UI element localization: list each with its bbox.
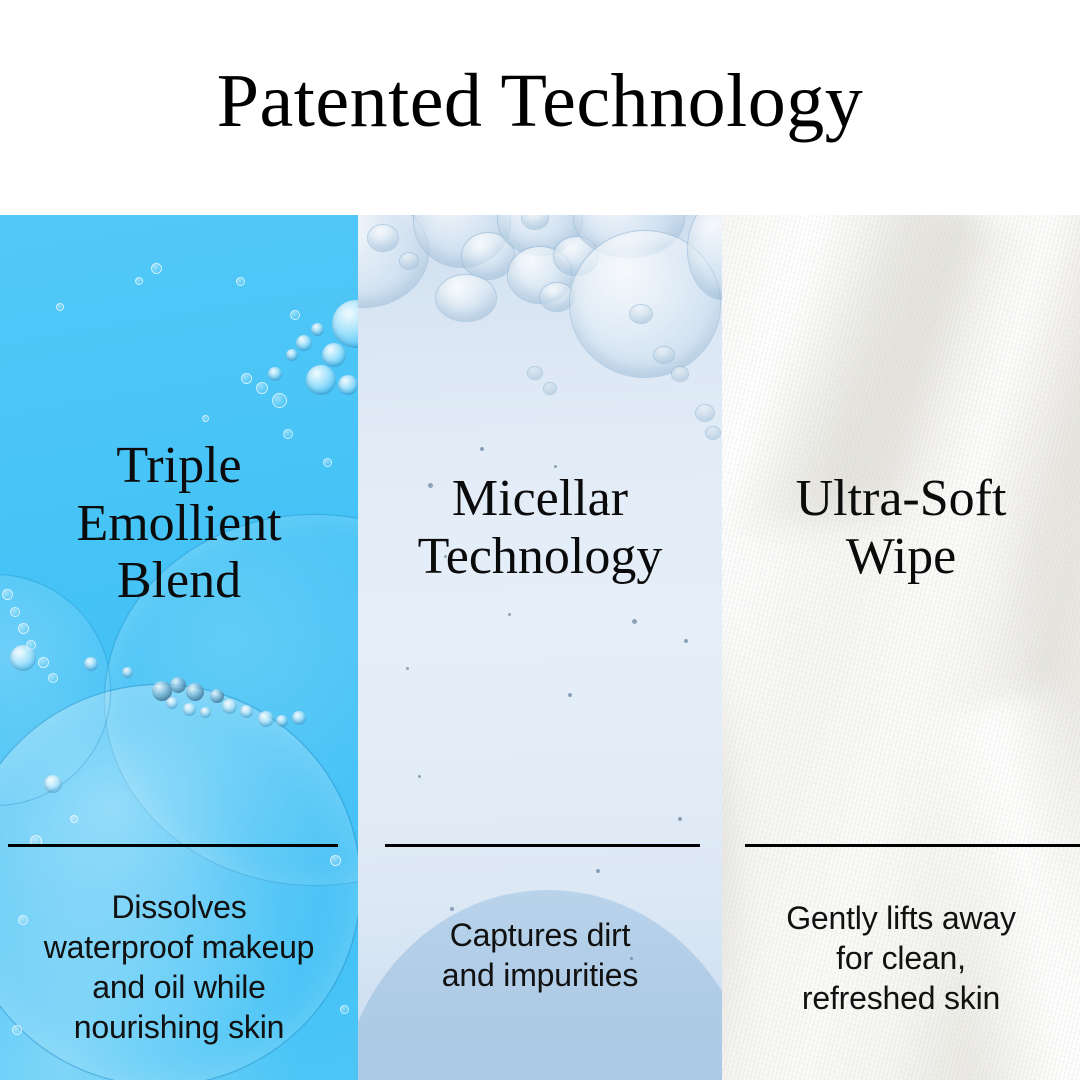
panel-1-heading-line: Blend <box>0 552 358 610</box>
feature-panel-ultra-soft-wipe: Ultra-Soft Wipe Gently lifts away for cl… <box>722 215 1080 1080</box>
panel-2-heading-line: Micellar <box>358 470 722 528</box>
panel-1-divider <box>8 844 338 847</box>
panel-2-description-line: and impurities <box>372 955 708 995</box>
panel-2-description: Captures dirt and impurities <box>358 915 722 995</box>
panel-3-description: Gently lifts away for clean, refreshed s… <box>722 898 1080 1018</box>
panel-1-content: Triple Emollient Blend Dissolves waterpr… <box>0 215 358 1080</box>
feature-panel-triple-emollient-blend: Triple Emollient Blend Dissolves waterpr… <box>0 215 358 1080</box>
panel-1-heading-line: Triple <box>0 437 358 495</box>
panel-3-content: Ultra-Soft Wipe Gently lifts away for cl… <box>722 215 1080 1080</box>
panel-1-description-line: waterproof makeup <box>6 927 352 967</box>
panel-3-description-line: Gently lifts away <box>736 898 1066 938</box>
panel-1-description-line: nourishing skin <box>6 1007 352 1047</box>
panel-3-divider <box>745 844 1080 847</box>
panel-1-description: Dissolves waterproof makeup and oil whil… <box>0 887 358 1047</box>
panel-1-heading: Triple Emollient Blend <box>0 437 358 610</box>
feature-panel-micellar-technology: Micellar Technology Captures dirt and im… <box>358 215 722 1080</box>
panel-2-heading: Micellar Technology <box>358 470 722 585</box>
page-title: Patented Technology <box>217 63 864 153</box>
panel-3-description-line: refreshed skin <box>736 978 1066 1018</box>
panel-3-heading-line: Wipe <box>722 528 1080 586</box>
panel-2-description-line: Captures dirt <box>372 915 708 955</box>
panel-3-heading-line: Ultra-Soft <box>722 470 1080 528</box>
panel-1-description-line: Dissolves <box>6 887 352 927</box>
panel-2-heading-line: Technology <box>358 528 722 586</box>
panel-2-content: Micellar Technology Captures dirt and im… <box>358 215 722 1080</box>
feature-panels: Triple Emollient Blend Dissolves waterpr… <box>0 215 1080 1080</box>
panel-2-divider <box>385 844 700 847</box>
panel-1-description-line: and oil while <box>6 967 352 1007</box>
header-band: Patented Technology <box>0 0 1080 215</box>
product-feature-infographic: Patented Technology <box>0 0 1080 1080</box>
panel-3-description-line: for clean, <box>736 938 1066 978</box>
panel-1-heading-line: Emollient <box>0 495 358 553</box>
panel-3-heading: Ultra-Soft Wipe <box>722 470 1080 585</box>
